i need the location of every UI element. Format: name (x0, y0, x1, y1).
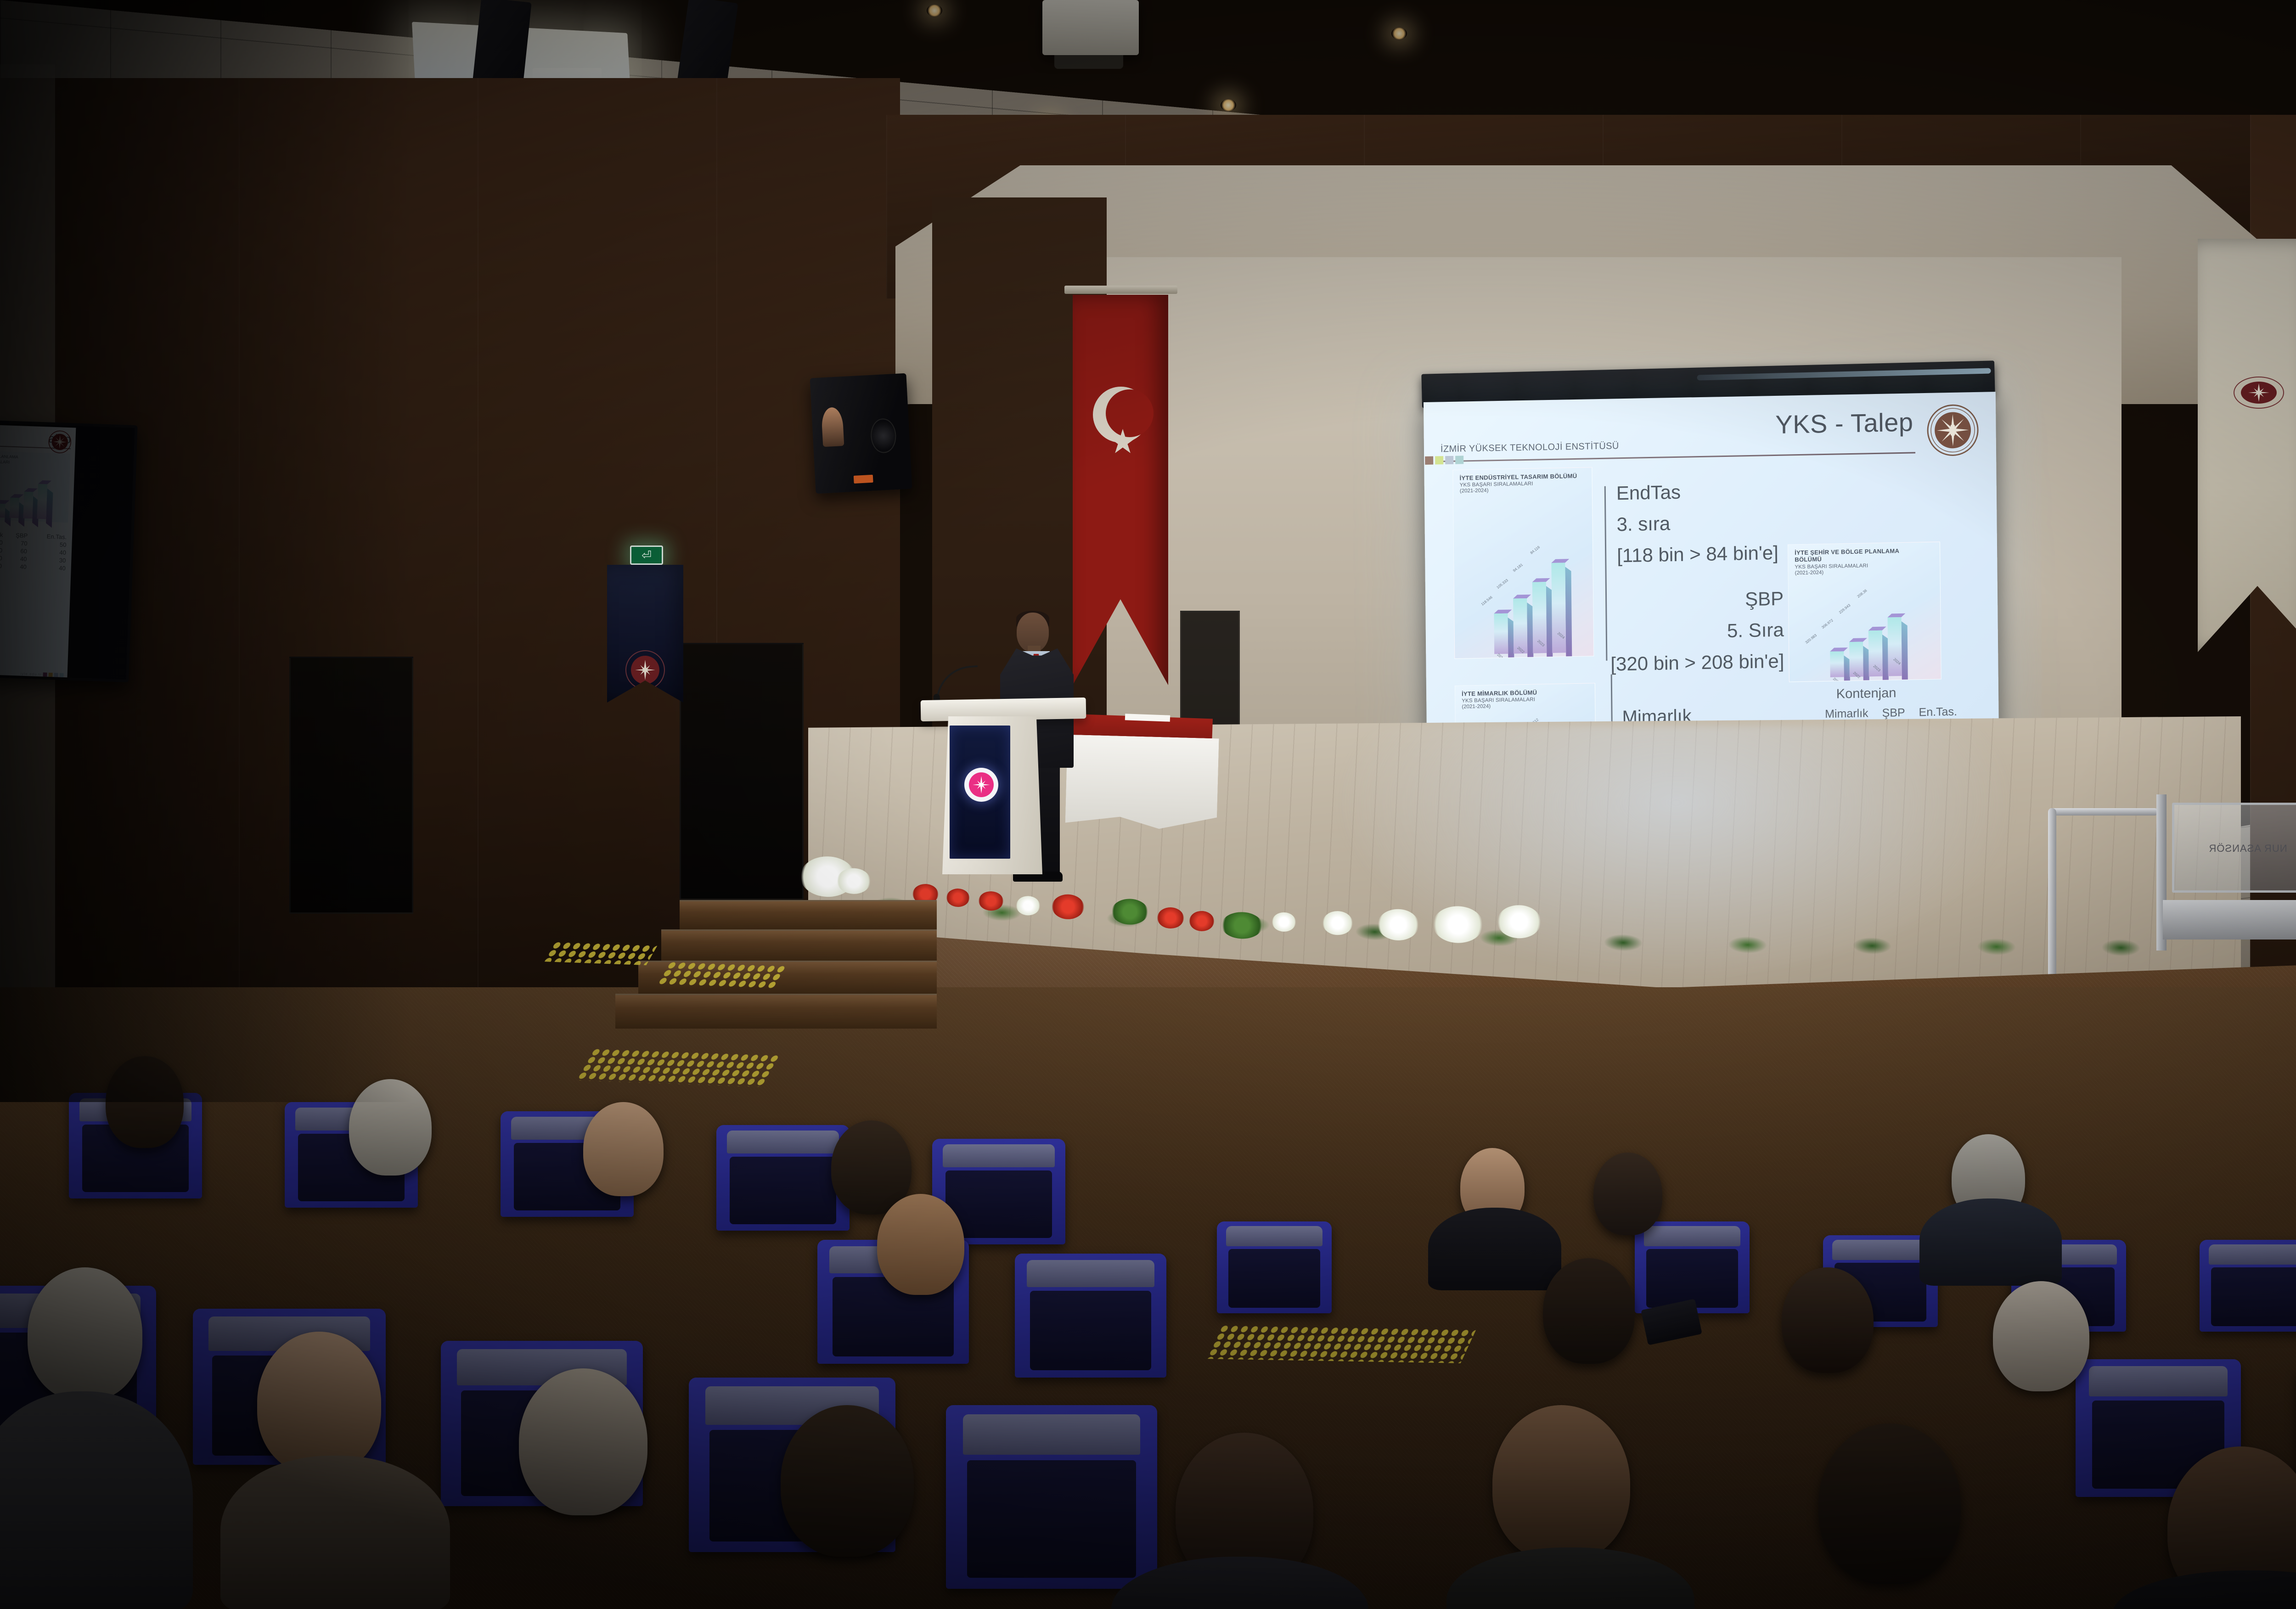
audience-head (1782, 1267, 1874, 1373)
table-caption: Kontenjan (1770, 685, 1963, 703)
ceiling-projector (1042, 0, 1139, 55)
seat[interactable] (946, 1405, 1157, 1589)
flower-white (1016, 896, 1040, 916)
flower-white (1497, 905, 1542, 939)
audience-head (519, 1368, 647, 1515)
monitor-chart-thumb: LGE PLANLAMA ALAMALARI (0, 451, 70, 523)
block-name: ŞBP (1618, 588, 1784, 613)
stair-step (661, 929, 937, 961)
audience-head (1492, 1405, 1630, 1561)
divider-rule (1604, 486, 1608, 661)
seat[interactable] (1015, 1254, 1166, 1378)
stair-step (680, 900, 937, 929)
confidence-monitor-left: alep LGE PLANLAMA ALAMALARI ntenjan (0, 420, 138, 682)
block-rank: 5. Sıra (1619, 619, 1784, 644)
block-range: [118 bin > 84 bin'e] (1617, 542, 1778, 567)
iyte-crest-icon (1926, 403, 1980, 457)
audience-shoulders (1919, 1198, 2062, 1286)
audience-head (1993, 1281, 2089, 1391)
ceiling-spot-light (927, 5, 942, 17)
foliage (1111, 898, 1149, 925)
audience-head (1543, 1258, 1635, 1364)
flower-red (1189, 911, 1214, 931)
iyte-cream-pennant (2198, 239, 2296, 652)
jbl-speaker-icon (854, 475, 873, 484)
flower-red (978, 891, 1003, 911)
head-table-cloth (1065, 735, 1219, 831)
header-swatches (1425, 456, 1463, 465)
audience-head (1593, 1153, 1662, 1235)
speaker-horn-icon (821, 407, 844, 447)
tactile-paving (1205, 1325, 1476, 1363)
chart-thumb-endtas: İYTE ENDÜSTRİYEL TASARIM BÖLÜMÜ YKS BAŞA… (1452, 467, 1594, 659)
audience-head (257, 1332, 381, 1474)
seat[interactable] (2200, 1240, 2296, 1332)
flower-white (1432, 906, 1484, 944)
audience-shoulders (0, 1391, 193, 1609)
speaker-driver-icon (870, 418, 896, 454)
audience-shoulders (220, 1456, 450, 1609)
emergency-exit-sign: ⏎ (630, 546, 663, 565)
hall-door[interactable] (289, 657, 413, 914)
flower-white (1272, 912, 1296, 932)
header-rule (1440, 452, 1915, 462)
slide-institution: İZMİR YÜKSEK TEKNOLOJİ ENSTİTÜSÜ (1441, 441, 1619, 455)
lift-glass-panel: NUR ASANSÖR (2172, 803, 2296, 893)
monitor-footer-url: iyte.edu.tr (20, 672, 41, 677)
stair-step (615, 994, 937, 1029)
audience-head (28, 1267, 142, 1401)
flower-red (1157, 907, 1184, 929)
flower-white (1322, 911, 1353, 935)
audience-head (877, 1194, 964, 1295)
audience-head (583, 1102, 664, 1196)
slide-header: YKS - Talep İZMİR YÜKSEK TEKNOLOJİ ENSTİ… (1439, 404, 1982, 458)
monitor-screen: alep LGE PLANLAMA ALAMALARI ntenjan (0, 424, 76, 679)
audience-shoulders (1428, 1208, 1561, 1290)
tactile-paving (543, 941, 658, 965)
bars-3d-sbp: 320.983 306.972 229.943 208.36 2021 2022… (1822, 596, 1938, 677)
block-name: EndTas (1616, 479, 1778, 504)
tactile-paving (575, 1048, 782, 1087)
iyte-crest-icon (2234, 377, 2284, 409)
audience-head (1818, 1423, 1961, 1584)
audience-head (781, 1405, 914, 1557)
block-range: [320 bin > 208 bin'e] (1609, 650, 1784, 675)
flag-rod (1064, 286, 1177, 294)
auditorium-scene: ⏎ YKS - Talep İZMİR YÜKSEK TEKNOLOJİ EN (0, 0, 2296, 1609)
block-rank: 3. sıra (1616, 511, 1778, 535)
thumb-title: İYTE ŞEHİR VE BÖLGE PLANLAMA BÖLÜMÜ (1795, 547, 1905, 563)
hall-door[interactable] (680, 643, 804, 900)
crescent-icon (1093, 387, 1149, 443)
iyte-star-icon (964, 768, 998, 802)
flower-red (1052, 894, 1084, 920)
audience-head (106, 1056, 184, 1148)
foliage (1221, 911, 1263, 939)
block-sbp: ŞBP 5. Sıra [320 bin > 208 bin'e] (1618, 588, 1784, 685)
lift-brand-label: NUR ASANSÖR (2174, 843, 2296, 855)
flower-red (946, 888, 970, 907)
tactile-paving (656, 961, 786, 989)
wall-speaker-left (810, 373, 912, 494)
seat[interactable] (1217, 1221, 1332, 1313)
lift-guard-rail-top (2048, 808, 2158, 816)
slide-title: YKS - Talep (1775, 407, 1913, 439)
seat[interactable] (716, 1125, 850, 1231)
ceiling-spot-light (1391, 28, 1407, 39)
flower-white (1377, 909, 1419, 941)
ceiling-spot-light (1221, 99, 1236, 111)
block-endtas: EndTas 3. sıra [118 bin > 84 bin'e] (1616, 479, 1779, 576)
monitor-table: ntenjan arlıkŞBPEn.Tas. 1107050 1006040 … (0, 523, 68, 572)
chart-thumb-sbp: İYTE ŞEHİR VE BÖLGE PLANLAMA BÖLÜMÜ YKS … (1788, 541, 1941, 682)
iyte-crest-icon (47, 429, 72, 454)
bars-3d-endtas: 118.546 105.333 94.181 84.116 2021 2022 … (1484, 528, 1591, 654)
audience-head (349, 1079, 432, 1176)
